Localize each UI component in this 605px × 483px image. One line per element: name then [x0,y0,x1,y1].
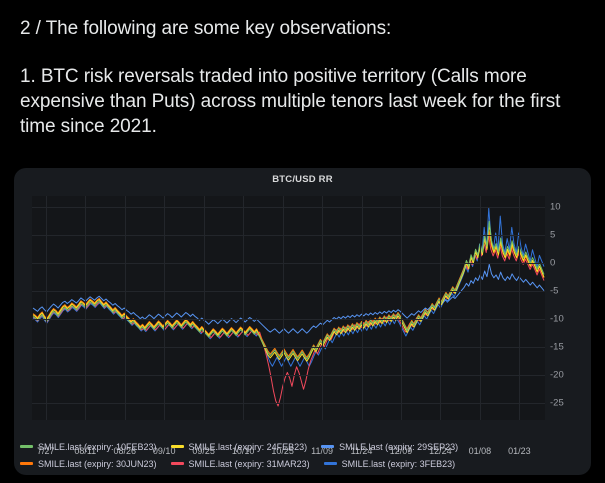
gridline-vertical [164,196,165,420]
legend-color-swatch [20,445,33,448]
y-axis-tick-label: -15 [550,342,564,353]
tweet-body: 2 / The following are some key observati… [0,0,605,139]
gridline-vertical [401,196,402,420]
tweet-card: 2 / The following are some key observati… [0,0,605,483]
legend-item[interactable]: SMILE.last (expiry: 29SEP23) [321,440,458,453]
legend-color-swatch [171,462,184,465]
y-axis-tick-label: -25 [550,398,564,409]
gridline-horizontal [32,291,545,292]
gridline-horizontal [32,403,545,404]
chart-panel[interactable]: BTC/USD RR 1050-5-10-15-20-25 7/2708/110… [14,168,591,475]
legend-item[interactable]: SMILE.last (expiry: 30JUN23) [20,457,157,470]
y-axis-tick-label: -20 [550,370,564,381]
legend-color-swatch [324,462,337,465]
gridline-vertical [322,196,323,420]
plot-area[interactable] [32,196,545,420]
legend-item-label: SMILE.last (expiry: 31MAR23) [189,459,310,469]
legend-color-swatch [321,445,334,448]
gridline-vertical [440,196,441,420]
y-axis-tick-label: -10 [550,314,564,325]
legend-item-label: SMILE.last (expiry: 24FEB23) [189,442,308,452]
y-axis-tick-label: 0 [550,258,555,269]
gridline-vertical [243,196,244,420]
gridline-horizontal [32,347,545,348]
y-axis-tick-label: -5 [550,286,558,297]
gridline-vertical [519,196,520,420]
gridline-vertical [46,196,47,420]
chart-legend[interactable]: SMILE.last (expiry: 10FEB23)SMILE.last (… [14,440,591,470]
plot-wrapper: 1050-5-10-15-20-25 7/2708/1108/2609/1009… [14,190,591,440]
legend-item-label: SMILE.last (expiry: 29SEP23) [339,442,458,452]
gridline-horizontal [32,207,545,208]
legend-item-label: SMILE.last (expiry: 10FEB23) [38,442,157,452]
series-line [33,264,544,333]
gridline-vertical [125,196,126,420]
legend-item[interactable]: SMILE.last (expiry: 3FEB23) [324,457,456,470]
gridline-vertical [283,196,284,420]
series-lines [32,196,545,420]
legend-item[interactable]: SMILE.last (expiry: 10FEB23) [20,440,157,453]
gridline-vertical [480,196,481,420]
gridline-vertical [362,196,363,420]
series-line [33,224,544,361]
gridline-horizontal [32,235,545,236]
chart-title: BTC/USD RR [14,168,591,185]
tweet-paragraph-2: 1. BTC risk reversals traded into positi… [20,64,585,139]
legend-color-swatch [20,462,33,465]
gridline-horizontal [32,375,545,376]
legend-item[interactable]: SMILE.last (expiry: 24FEB23) [171,440,308,453]
legend-item-label: SMILE.last (expiry: 3FEB23) [342,459,456,469]
legend-item[interactable]: SMILE.last (expiry: 31MAR23) [171,457,310,470]
legend-color-swatch [171,445,184,448]
gridline-horizontal [32,319,545,320]
series-line [33,232,544,357]
y-axis-tick-label: 5 [550,230,555,241]
gridline-vertical [204,196,205,420]
y-axis-tick-label: 10 [550,202,561,213]
legend-item-label: SMILE.last (expiry: 30JUN23) [38,459,157,469]
tweet-paragraph-1: 2 / The following are some key observati… [20,16,585,41]
series-line [33,208,544,366]
series-line [33,235,544,406]
gridline-horizontal [32,263,545,264]
series-line [33,221,544,359]
gridline-vertical [85,196,86,420]
